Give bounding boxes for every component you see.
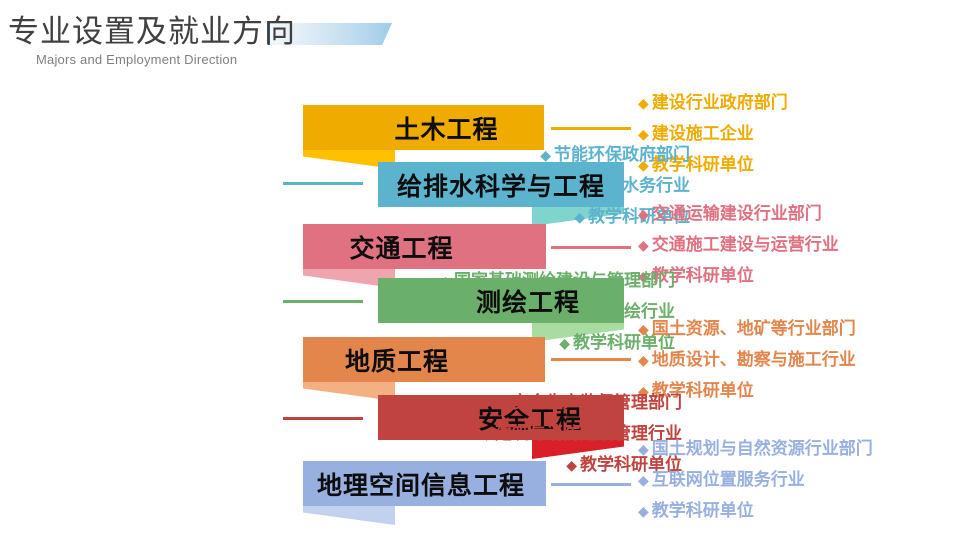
employment-item: ◆互联网位置服务行业 — [638, 465, 873, 496]
employment-item-label: 节能环保政府部门 — [554, 145, 690, 165]
connector-line-civil — [551, 127, 631, 130]
banner-label: 交通工程 — [303, 229, 546, 265]
page-subtitle: Majors and Employment Direction — [36, 52, 237, 67]
diamond-bullet-icon: ◆ — [638, 322, 652, 338]
diamond-bullet-icon: ◆ — [498, 396, 512, 412]
employment-item-label: 国土资源、地矿等行业部门 — [652, 319, 856, 339]
employment-item-label: 安全生产监督管理部门 — [512, 393, 682, 413]
diamond-bullet-icon: ◆ — [638, 238, 652, 254]
employment-item: ◆水务行业 — [540, 171, 690, 202]
employment-item: ◆交通施工建设与运营行业 — [638, 230, 839, 261]
diamond-bullet-icon: ◆ — [638, 473, 652, 489]
diamond-bullet-icon: ◆ — [638, 504, 652, 520]
diamond-bullet-icon: ◆ — [540, 148, 554, 164]
employment-item-label: 水务行业 — [622, 176, 690, 196]
employment-item: ◆安全生产监督管理部门 — [481, 388, 682, 419]
employment-item-label: 地质设计、勘察与施工行业 — [652, 350, 856, 370]
diamond-bullet-icon: ◆ — [566, 458, 580, 474]
connector-line-geoinfo — [551, 483, 631, 486]
employment-list-geoinfo: ◆国土规划与自然资源行业部门◆互联网位置服务行业◆教学科研单位 — [638, 434, 873, 527]
connector-line-survey — [283, 300, 363, 303]
page-title: 专业设置及就业方向 — [8, 6, 296, 51]
employment-item: ◆建设行业政府部门 — [638, 88, 788, 119]
employment-item: ◆节能环保政府部门 — [540, 140, 690, 171]
employment-item: ◆教学科研单位 — [638, 496, 873, 527]
employment-item: ◆国土规划与自然资源行业部门 — [638, 434, 873, 465]
employment-item: ◆国土资源、地矿等行业部门 — [638, 314, 856, 345]
page-header: 专业设置及就业方向 Majors and Employment Directio… — [0, 0, 960, 80]
banner-label: 土木工程 — [303, 110, 544, 146]
diamond-bullet-icon: ◆ — [440, 274, 454, 290]
employment-item: ◆交通运输建设行业部门 — [638, 199, 839, 230]
diamond-bullet-icon: ◆ — [559, 305, 573, 321]
diamond-bullet-icon: ◆ — [638, 96, 652, 112]
diamond-bullet-icon: ◆ — [481, 427, 495, 443]
employment-item-label: 教学科研单位 — [652, 501, 754, 521]
employment-item: ◆地质设计、勘察与施工行业 — [638, 345, 856, 376]
connector-line-safety — [283, 417, 363, 420]
employment-item-label: 交通施工建设与运营行业 — [652, 235, 839, 255]
banner-body: 交通工程 — [303, 224, 546, 269]
employment-item-label: 国家基础测绘建设与管理部门 — [454, 271, 675, 291]
diamond-bullet-icon: ◆ — [638, 442, 652, 458]
banner-traffic[interactable]: 交通工程 — [303, 224, 546, 269]
employment-item: ◆国家基础测绘建设与管理部门 — [440, 266, 675, 297]
banner-tail — [303, 506, 395, 525]
diamond-bullet-icon: ◆ — [574, 210, 588, 226]
employment-item-label: 交通运输建设行业部门 — [652, 204, 822, 224]
banner-body: 土木工程 — [303, 105, 544, 150]
banner-civil[interactable]: 土木工程 — [303, 105, 544, 150]
diamond-bullet-icon: ◆ — [638, 353, 652, 369]
connector-line-water — [283, 182, 363, 185]
diamond-bullet-icon: ◆ — [559, 336, 573, 352]
diamond-bullet-icon: ◆ — [608, 179, 622, 195]
employment-item-label: 建设行业政府部门 — [652, 93, 788, 113]
employment-item-label: 国土规划与自然资源行业部门 — [652, 439, 873, 459]
connector-line-traffic — [551, 246, 631, 249]
employment-item-label: 互联网位置服务行业 — [652, 470, 805, 490]
diamond-bullet-icon: ◆ — [638, 207, 652, 223]
